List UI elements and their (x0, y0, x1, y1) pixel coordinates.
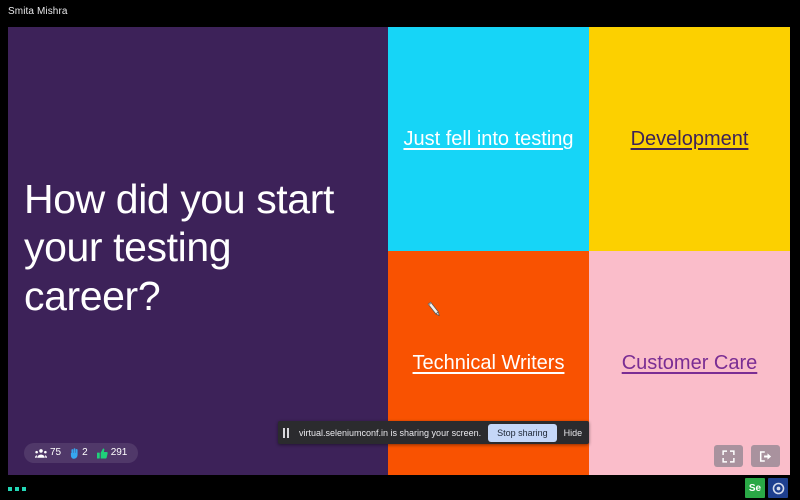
answer-customer-care[interactable]: Customer Care (589, 251, 790, 475)
answer-grid: Just fell into testing Development Techn… (388, 27, 790, 475)
tray-icons: Se (745, 478, 788, 498)
stop-sharing-button[interactable]: Stop sharing (488, 424, 557, 442)
tray-icon-app[interactable] (768, 478, 788, 498)
answer-label: Development (631, 127, 749, 151)
pen-cursor-icon (424, 299, 444, 319)
fullscreen-icon (722, 450, 735, 463)
exit-icon (759, 450, 773, 463)
thumbs-up-count: 291 (97, 448, 128, 459)
pause-icon (283, 427, 292, 438)
answer-label: Customer Care (622, 351, 758, 375)
participants-count: 75 (35, 448, 61, 459)
overflow-menu-button[interactable] (8, 487, 26, 491)
hide-button[interactable]: Hide (564, 428, 583, 438)
question-pane: How did you start your testing career? (8, 27, 388, 475)
raised-hands-count: 2 (70, 448, 88, 459)
thumbs-up-icon (97, 448, 108, 459)
people-icon (35, 448, 47, 459)
tray-icon-selenium[interactable]: Se (745, 478, 765, 498)
shared-slide: How did you start your testing career? J… (8, 27, 790, 475)
share-message: virtual.seleniumconf.in is sharing your … (299, 428, 481, 438)
presenter-name: Smita Mishra (8, 6, 68, 17)
answer-label: Technical Writers (413, 351, 565, 375)
screen-share-view: Smita Mishra How did you start your test… (0, 0, 800, 500)
answer-label: Just fell into testing (403, 127, 573, 151)
raised-hands-count-value: 2 (82, 448, 88, 458)
screen-share-notification: virtual.seleniumconf.in is sharing your … (278, 421, 589, 444)
answer-just-fell-into-testing[interactable]: Just fell into testing (388, 27, 589, 251)
presenter-bar: Smita Mishra (0, 0, 800, 27)
exit-presentation-button[interactable] (751, 445, 780, 467)
participants-count-value: 75 (50, 448, 61, 458)
thumbs-up-count-value: 291 (111, 448, 128, 458)
fullscreen-button[interactable] (714, 445, 743, 467)
reactions-pill: 75 2 291 (24, 443, 138, 463)
raised-hand-icon (70, 448, 79, 459)
stage-controls (714, 445, 780, 467)
app-icon (772, 482, 785, 495)
page-title: How did you start your testing career? (24, 175, 364, 320)
taskbar: Se (0, 475, 800, 500)
answer-development[interactable]: Development (589, 27, 790, 251)
